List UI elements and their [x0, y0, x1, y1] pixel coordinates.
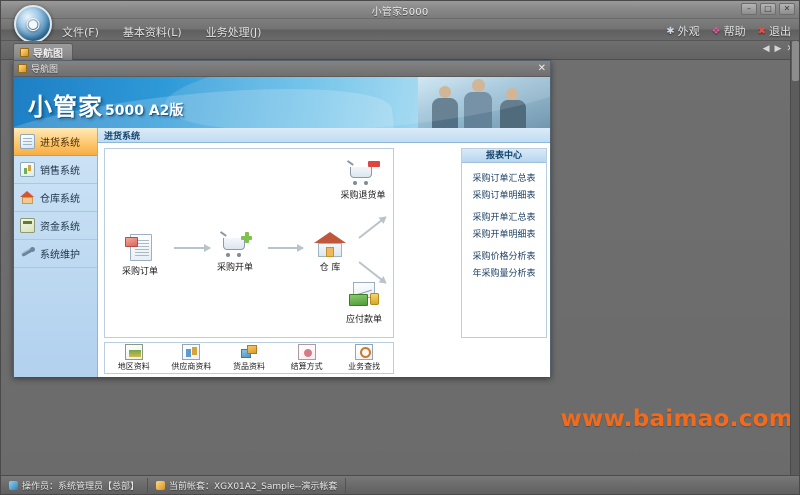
appearance-icon: ✱	[666, 26, 674, 37]
purchase-doc-icon	[20, 134, 35, 149]
flow-node-label: 应付款单	[334, 312, 394, 325]
business-search-icon	[355, 344, 373, 360]
menu-right-group: ✱ 外观 ❖ 帮助 ✖ 退出	[666, 23, 791, 39]
sidebar-item-label: 资金系统	[40, 218, 80, 233]
payable-money-icon	[347, 281, 381, 311]
menu-business[interactable]: 业务处理(J)	[201, 23, 267, 41]
operator-icon	[9, 481, 18, 490]
navigation-map-icon	[20, 48, 29, 57]
navigation-map-window: 导航图 ✕ 小管家 5000 A2版 进货系统	[13, 60, 551, 377]
banner-photo-icon	[418, 77, 550, 128]
tab-next-icon[interactable]: ▶	[775, 44, 782, 54]
status-operator-label: 操作员：系统管理员【总部】	[22, 479, 139, 492]
flow-node-warehouse[interactable]: 仓 库	[301, 229, 359, 273]
status-operator: 操作员：系统管理员【总部】	[1, 478, 148, 493]
shortcut-label: 货品资料	[223, 361, 275, 372]
menu-basic-data[interactable]: 基本资料(L)	[118, 23, 187, 41]
shortcut-settlement[interactable]: 结算方式	[281, 344, 333, 372]
shortcut-supplier[interactable]: 供应商资料	[165, 344, 217, 372]
flow-arrow-2	[268, 247, 303, 249]
warehouse-icon	[313, 229, 347, 259]
report-link[interactable]: 采购开单明细表	[462, 225, 546, 242]
shortcut-business-search[interactable]: 业务查找	[338, 344, 390, 372]
shortcut-goods[interactable]: 货品资料	[223, 344, 275, 372]
window-controls: – □ ✕	[741, 3, 795, 15]
flow-node-label: 采购订单	[111, 264, 169, 277]
sidebar-item-finance[interactable]: 资金系统	[14, 212, 97, 240]
supplier-icon	[182, 344, 200, 360]
mdi-title-label: 导航图	[31, 62, 58, 75]
exit-button[interactable]: ✖ 退出	[758, 23, 791, 39]
watermark: www.baimao.com	[560, 406, 793, 432]
return-cart-icon	[346, 157, 380, 187]
flow-node-label: 采购退货单	[331, 188, 395, 201]
shortcut-label: 地区资料	[108, 361, 160, 372]
workspace-scrollbar[interactable]	[790, 41, 799, 475]
application-window: 小管家5000 – □ ✕ ◉ 文件(F) 基本资料(L) 业务处理(J) ✱ …	[0, 0, 800, 495]
sidebar-item-warehouse[interactable]: 仓库系统	[14, 184, 97, 212]
navigation-map-icon	[18, 64, 27, 73]
report-link[interactable]: 采购订单汇总表	[462, 169, 546, 186]
report-center-panel: 报表中心 采购订单汇总表 采购订单明细表 采购开单汇总表 采购开单明细表 采购价…	[461, 148, 547, 338]
sidebar-item-label: 仓库系统	[40, 190, 80, 205]
close-button[interactable]: ✕	[779, 3, 795, 15]
report-center-header: 报表中心	[462, 149, 546, 163]
flow-arrow-3	[358, 216, 386, 239]
flow-node-purchase-order[interactable]: 采购订单	[111, 233, 169, 277]
report-link-list: 采购订单汇总表 采购订单明细表 采购开单汇总表 采购开单明细表 采购价格分析表 …	[462, 163, 546, 281]
status-account: 当前帐套：XGX01A2_Sample--演示帐套	[148, 478, 346, 493]
flow-diagram-panel: 采购订单 采购开单	[104, 148, 394, 338]
flow-node-label: 采购开单	[206, 260, 264, 273]
report-link[interactable]: 采购开单汇总表	[462, 208, 546, 225]
purchase-order-icon	[123, 233, 157, 263]
warehouse-house-icon	[20, 190, 35, 205]
menu-item-group: 文件(F) 基本资料(L) 业务处理(J)	[57, 23, 266, 41]
minimize-button[interactable]: –	[741, 3, 757, 15]
help-label: 帮助	[724, 23, 746, 39]
tab-prev-icon[interactable]: ◀	[763, 44, 770, 54]
account-book-icon	[156, 481, 165, 490]
sidebar-item-label: 销售系统	[40, 162, 80, 177]
mdi-close-button[interactable]: ✕	[538, 62, 546, 75]
scrollbar-thumb[interactable]	[792, 41, 799, 81]
workarea: 采购订单 采购开单	[98, 143, 550, 377]
content-area: 进货系统 采购订单	[98, 128, 550, 377]
brand-name-cn: 小管家	[28, 87, 103, 122]
report-link[interactable]: 年采购量分析表	[462, 264, 546, 281]
sales-chart-icon	[20, 162, 35, 177]
status-bar: 操作员：系统管理员【总部】 当前帐套：XGX01A2_Sample--演示帐套	[1, 475, 799, 494]
appearance-button[interactable]: ✱ 外观	[666, 23, 699, 39]
status-account-label: 当前帐套：XGX01A2_Sample--演示帐套	[169, 479, 337, 492]
calculator-icon	[20, 218, 35, 233]
content-header: 进货系统	[98, 128, 550, 143]
flow-node-purchase-bill[interactable]: 采购开单	[206, 229, 264, 273]
shortcut-label: 供应商资料	[165, 361, 217, 372]
app-orb-icon[interactable]: ◉	[14, 5, 52, 43]
window-titlebar: 小管家5000 – □ ✕	[1, 1, 799, 19]
brand-name-en: 5000 A2版	[105, 100, 183, 120]
window-title: 小管家5000	[1, 3, 799, 18]
mdi-titlebar: 导航图 ✕	[14, 61, 550, 77]
report-link[interactable]: 采购订单明细表	[462, 186, 546, 203]
shortcut-region[interactable]: 地区资料	[108, 344, 160, 372]
sidebar-item-label: 系统维护	[40, 246, 80, 261]
mdi-body: 小管家 5000 A2版 进货系统 销售系统 仓库系统	[14, 77, 550, 377]
appearance-label: 外观	[678, 23, 700, 39]
purchase-cart-icon	[218, 229, 252, 259]
shortcut-bar: 地区资料 供应商资料 货品资料 结算方式	[104, 342, 394, 374]
sidebar-item-label: 进货系统	[40, 134, 80, 149]
menu-file[interactable]: 文件(F)	[57, 23, 104, 41]
product-banner: 小管家 5000 A2版	[14, 77, 550, 128]
exit-label: 退出	[769, 23, 791, 39]
tab-label: 导航图	[33, 45, 63, 60]
sidebar-item-maintenance[interactable]: 系统维护	[14, 240, 97, 268]
report-link[interactable]: 采购价格分析表	[462, 247, 546, 264]
menu-bar: ◉ 文件(F) 基本资料(L) 业务处理(J) ✱ 外观 ❖ 帮助 ✖ 退出	[1, 19, 799, 41]
flow-node-purchase-return[interactable]: 采购退货单	[331, 157, 395, 201]
brand-logo: 小管家 5000 A2版	[28, 87, 183, 122]
sidebar-item-sales[interactable]: 销售系统	[14, 156, 97, 184]
shortcut-label: 结算方式	[281, 361, 333, 372]
goods-icon	[240, 344, 258, 360]
help-icon: ❖	[712, 26, 721, 37]
sidebar-item-purchase[interactable]: 进货系统	[14, 128, 97, 156]
maximize-button[interactable]: □	[760, 3, 776, 15]
sidebar: 进货系统 销售系统 仓库系统 资金系统	[14, 128, 98, 377]
exit-icon: ✖	[758, 26, 766, 37]
help-button[interactable]: ❖ 帮助	[712, 23, 746, 39]
region-icon	[125, 344, 143, 360]
tab-navigation-map[interactable]: 导航图	[13, 43, 73, 60]
tab-strip: 导航图 ◀ ▶ ✕	[1, 41, 799, 60]
shortcut-label: 业务查找	[338, 361, 390, 372]
flow-arrow-1	[174, 247, 210, 249]
wrench-icon	[20, 246, 35, 261]
flow-node-payable[interactable]: 应付款单	[334, 281, 394, 325]
settlement-icon	[298, 344, 316, 360]
flow-node-label: 仓 库	[301, 260, 359, 273]
